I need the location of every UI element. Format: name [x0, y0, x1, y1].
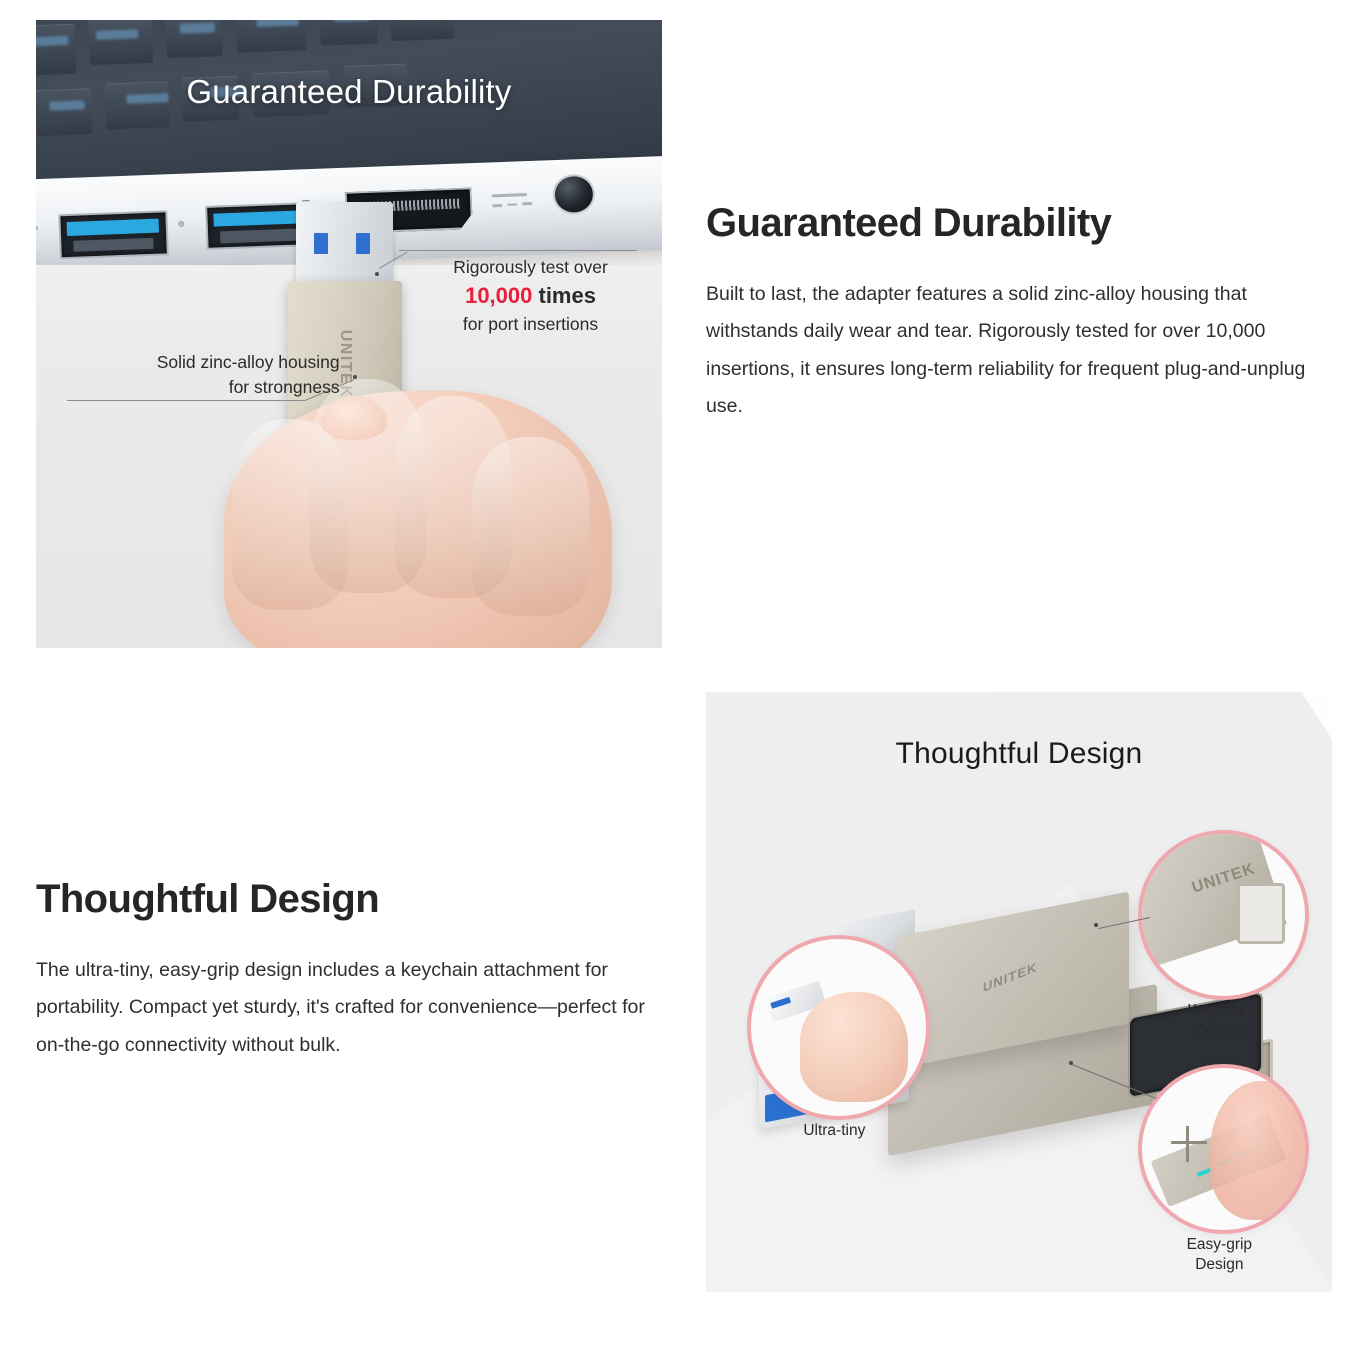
- image-overlay-heading: Thoughtful Design: [706, 737, 1332, 771]
- durability-title: Guaranteed Durability: [706, 200, 1334, 246]
- keychain-ring: [1237, 883, 1285, 944]
- guaranteed-durability-image: ⚭ ⊕ HDMI UNITEK Guaranteed Dura: [36, 20, 662, 648]
- vent-line: [492, 205, 502, 208]
- design-copy-block: Thoughtful Design The ultra-tiny, easy-g…: [36, 876, 656, 1064]
- hand: [224, 391, 612, 648]
- callout-leader-line: [399, 250, 637, 251]
- callout-line-2: for strongness: [64, 375, 339, 400]
- callout-label-keychain: Keychain Design: [1138, 1001, 1301, 1041]
- hand-thumb: [800, 992, 909, 1102]
- callout-label-ultra-tiny: Ultra-tiny: [747, 1121, 922, 1141]
- vent-line: [507, 204, 517, 207]
- callout-circle-keychain: UNITEK: [1138, 830, 1309, 1000]
- callout-insertion-test: Rigorously test over 10,000 times for po…: [424, 256, 637, 337]
- callout-line-1: Solid zinc-alloy housing: [64, 350, 339, 375]
- usb-icon: ⚭: [36, 222, 40, 235]
- callout-circle-easy-grip: [1138, 1064, 1309, 1234]
- power-jack-port: [555, 176, 594, 213]
- thoughtful-design-image: Thoughtful Design UNITEK Ultra-tiny UNIT…: [706, 692, 1332, 1292]
- callout-number-suffix: times: [532, 283, 596, 308]
- usb-a-port-1: [58, 210, 169, 259]
- design-body: The ultra-tiny, easy-grip design include…: [36, 952, 656, 1064]
- callout-circle-ultra-tiny: [747, 935, 930, 1120]
- callout-anchor-dot: [353, 375, 357, 379]
- callout-leader-line: [67, 400, 305, 401]
- unitek-logo: UNITEK: [983, 959, 1037, 995]
- durability-body: Built to last, the adapter features a so…: [706, 276, 1334, 426]
- callout-zinc-alloy: Solid zinc-alloy housing for strongness: [64, 350, 339, 400]
- design-title: Thoughtful Design: [36, 876, 656, 922]
- durability-copy-block: Guaranteed Durability Built to last, the…: [706, 200, 1334, 426]
- grip-texture-line: [1171, 1141, 1207, 1144]
- callout-label-easy-grip: Easy-grip Design: [1138, 1235, 1301, 1275]
- grip-texture-line: [1186, 1126, 1189, 1162]
- usb-ss-icon: ⊕: [177, 219, 185, 230]
- callout-number: 10,000: [465, 283, 532, 308]
- vent-line: [492, 193, 527, 197]
- fingertip: [1210, 1081, 1308, 1220]
- callout-line-1: Rigorously test over: [424, 256, 637, 280]
- vent-line: [522, 202, 532, 205]
- callout-line-2: 10,000 times: [424, 281, 637, 311]
- usb-a-connector: [296, 202, 394, 284]
- image-overlay-heading: Guaranteed Durability: [36, 73, 662, 111]
- callout-line-3: for port insertions: [424, 313, 637, 337]
